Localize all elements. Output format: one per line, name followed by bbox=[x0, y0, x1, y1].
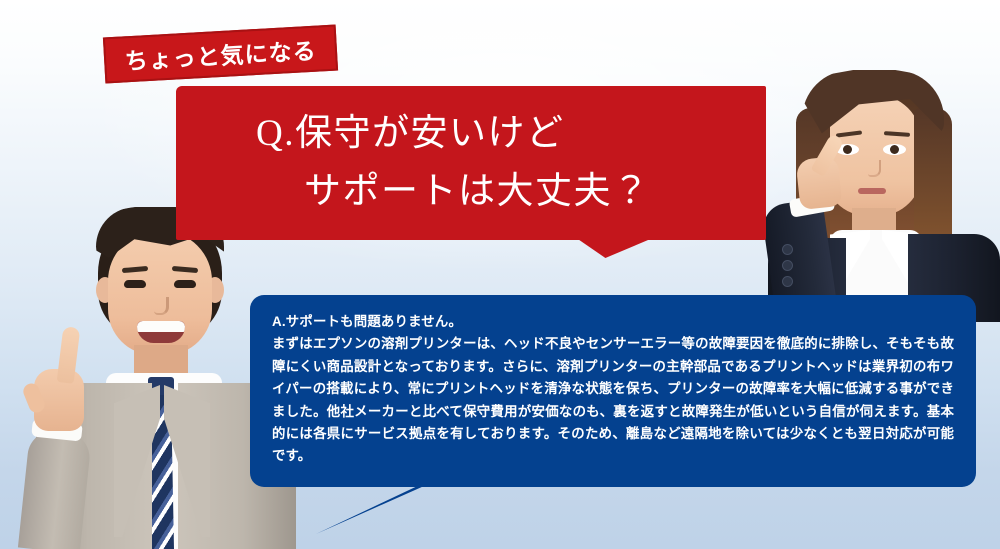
woman-sleeve-button-2 bbox=[782, 260, 793, 271]
woman-pupil-left bbox=[843, 145, 852, 154]
page-root: Q.保守が安いけど サポートは大丈夫？ ちょっと気になる A.サポートも問題あり… bbox=[0, 0, 1000, 549]
answer-box-tail bbox=[316, 482, 426, 534]
man-teeth bbox=[137, 321, 185, 332]
woman-sleeve-button-3 bbox=[782, 276, 793, 287]
answer-box: A.サポートも問題ありません。 まずはエプソンの溶剤プリンターは、ヘッド不良やセ… bbox=[250, 295, 976, 487]
woman-nose bbox=[868, 160, 881, 177]
question-bubble: Q.保守が安いけど サポートは大丈夫？ bbox=[176, 86, 766, 240]
man-raised-arm bbox=[18, 428, 92, 549]
attention-banner: ちょっと気になる bbox=[103, 25, 338, 84]
question-text: Q.保守が安いけど サポートは大丈夫？ bbox=[176, 86, 766, 240]
question-line-2: サポートは大丈夫？ bbox=[176, 163, 766, 221]
woman-mouth bbox=[858, 188, 886, 194]
man-eye-left bbox=[124, 280, 146, 288]
woman-pupil-right bbox=[890, 145, 899, 154]
attention-banner-label: ちょっと気になる bbox=[105, 27, 336, 82]
answer-body: まずはエプソンの溶剤プリンターは、ヘッド不良やセンサーエラー等の故障要因を徹底的… bbox=[272, 333, 954, 467]
woman-eye-right bbox=[883, 144, 906, 155]
man-eye-right bbox=[174, 280, 196, 288]
question-line-1: Q.保守が安いけど bbox=[176, 105, 766, 163]
answer-lead: A.サポートも問題ありません。 bbox=[272, 311, 954, 333]
woman-illustration bbox=[768, 62, 1000, 322]
man-mouth bbox=[137, 321, 185, 343]
man-nose bbox=[154, 297, 169, 315]
woman-sleeve-button-1 bbox=[782, 244, 793, 255]
